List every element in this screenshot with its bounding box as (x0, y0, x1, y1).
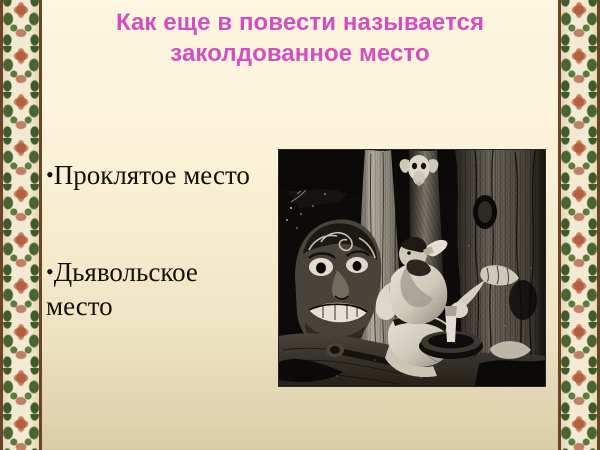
floral-band-left (3, 0, 39, 450)
floral-border-left (0, 0, 42, 450)
slide: Как еще в повести называется заколдованн… (0, 0, 600, 450)
list-item-label: Проклятое место (54, 160, 250, 190)
list-item: •Проклятое место (46, 158, 271, 193)
forest-illustration (279, 150, 545, 386)
bullet-list: •Проклятое место •Дьявольское место (46, 158, 271, 324)
bullet-marker-icon: • (46, 162, 54, 187)
slide-title: Как еще в повести называется заколдованн… (56, 8, 544, 69)
forest-illustration-art (279, 150, 545, 386)
floral-band-right (561, 0, 597, 450)
list-item: •Дьявольское место (46, 255, 271, 324)
border-rule-inner-right (558, 0, 561, 450)
border-rule-inner-left (39, 0, 42, 450)
bullet-marker-icon: • (46, 258, 54, 283)
list-item-label: Дьявольское место (46, 257, 198, 322)
floral-border-right (558, 0, 600, 450)
